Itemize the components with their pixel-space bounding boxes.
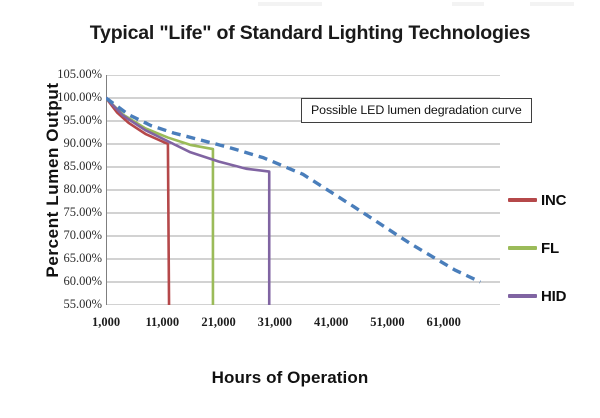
legend-item-fl[interactable]: FL bbox=[508, 224, 594, 272]
legend-swatch-icon bbox=[508, 198, 537, 201]
chart-container: Typical "Life" of Standard Lighting Tech… bbox=[0, 0, 600, 418]
y-tick-label: 105.00% bbox=[28, 67, 102, 82]
chart-legend: INCFLHID bbox=[508, 176, 594, 320]
led-annotation-callout: Possible LED lumen degradation curve bbox=[301, 98, 532, 123]
legend-swatch-icon bbox=[508, 246, 537, 249]
y-axis-tick-labels: 105.00%100.00%95.00%90.00%85.00%80.00%75… bbox=[24, 0, 102, 418]
y-tick-label: 80.00% bbox=[28, 182, 102, 197]
y-tick-label: 85.00% bbox=[28, 159, 102, 174]
y-tick-label: 75.00% bbox=[28, 205, 102, 220]
scan-artifact bbox=[452, 2, 484, 6]
y-tick-label: 70.00% bbox=[28, 228, 102, 243]
chart-title: Typical "Life" of Standard Lighting Tech… bbox=[60, 22, 560, 45]
y-tick-label: 90.00% bbox=[28, 136, 102, 151]
y-tick-label: 95.00% bbox=[28, 113, 102, 128]
legend-swatch-icon bbox=[508, 294, 537, 297]
scan-artifact bbox=[530, 2, 574, 6]
legend-label: HID bbox=[541, 288, 566, 305]
y-tick-label: 65.00% bbox=[28, 251, 102, 266]
y-tick-label: 100.00% bbox=[28, 90, 102, 105]
scan-artifact bbox=[258, 2, 322, 6]
y-tick-label: 55.00% bbox=[28, 297, 102, 312]
legend-label: INC bbox=[541, 192, 566, 209]
legend-item-hid[interactable]: HID bbox=[508, 272, 594, 320]
y-tick-label: 60.00% bbox=[28, 274, 102, 289]
series-line-hid bbox=[106, 98, 269, 305]
legend-item-inc[interactable]: INC bbox=[508, 176, 594, 224]
x-axis-title: Hours of Operation bbox=[80, 368, 500, 388]
legend-label: FL bbox=[541, 240, 559, 257]
x-tick-label: 61,000 bbox=[404, 315, 484, 330]
